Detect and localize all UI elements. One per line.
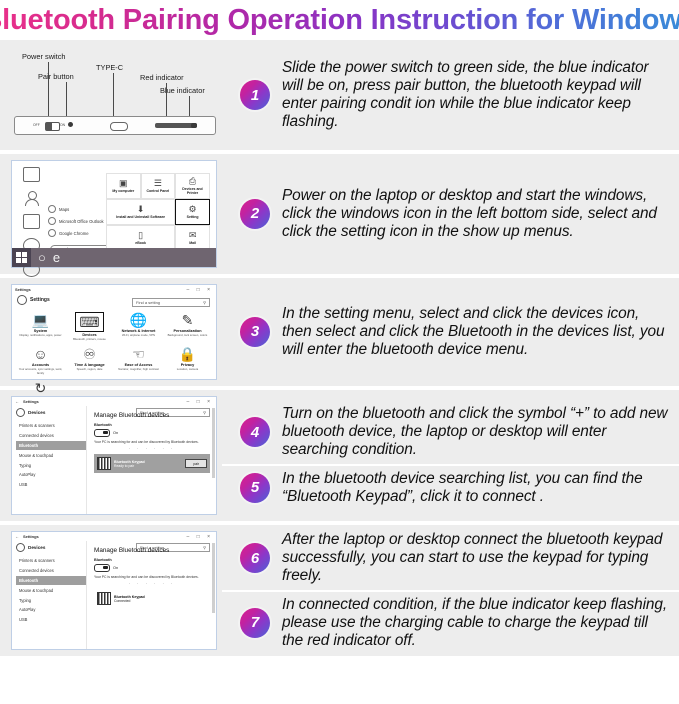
bluetooth-toggle-label: Bluetooth (94, 423, 210, 427)
bluetooth-toggle-label: Bluetooth (94, 558, 210, 562)
step-number-badge: 2 (240, 199, 270, 229)
back-arrow-icon[interactable]: ← (15, 534, 19, 539)
computer-icon: ▣ (119, 179, 128, 188)
step-block-2: 2 Power on the laptop or desktop and sta… (222, 183, 679, 246)
user-icon (24, 191, 39, 205)
sidebar-item-typing[interactable]: Typing (16, 460, 86, 470)
leader-line-pair-button (66, 82, 67, 118)
tile-label: Setting (187, 216, 199, 220)
step-text: In the setting menu, select and click th… (282, 305, 669, 360)
bluetooth-window-screenshot-pairing: ← Settings – □ × Find a setting ⚲ Device… (11, 396, 217, 515)
instruction-text-column-4: 4 Turn on the bluetooth and click the sy… (222, 390, 679, 521)
step-number-badge: 5 (240, 473, 270, 503)
taskbar: ○ e (12, 248, 216, 267)
step-text: In connected condition, if the blue indi… (282, 596, 669, 651)
bluetooth-window-screenshot-connected: ← Settings – □ × Find a setting ⚲ Device… (11, 531, 217, 650)
sidebar-item-mouse-touchpad[interactable]: Mouse & touchpad (16, 585, 86, 595)
page-title: Bluetooth Pairing Operation Instruction … (0, 0, 679, 40)
sidebar-item-typing[interactable]: Typing (16, 595, 86, 605)
sidebar-header: Devices (16, 543, 86, 552)
toggle-switch[interactable] (94, 564, 110, 572)
settings-window-cell: Settings – □ × Settings Find a setting ⚲… (0, 278, 222, 386)
sidebar-item-printers[interactable]: Printers & scanners (16, 421, 86, 431)
download-icon: ⬇ (137, 205, 145, 214)
scrollbar[interactable] (212, 543, 215, 613)
bluetooth-main-pane: Manage Bluetooth devices Bluetooth On Yo… (86, 406, 216, 514)
start-menu-screenshot: Maps Microsoft Office Outlook Google Chr… (11, 160, 217, 268)
clock-icon: ♾ (83, 346, 96, 362)
leader-line-power-switch (48, 62, 49, 118)
person-icon: ☺ (33, 346, 47, 362)
instruction-text-column-3: 3 In the setting menu, select and click … (222, 278, 679, 386)
app-label: Maps (59, 207, 69, 212)
step-text: After the laptop or desktop connect the … (282, 531, 669, 586)
app-icon (48, 217, 56, 225)
label-blue-indicator: Blue indicator (160, 86, 205, 95)
bluetooth-pairing-cell: ← Settings – □ × Find a setting ⚲ Device… (0, 390, 222, 521)
window-title: Settings (15, 287, 31, 292)
step-number-badge: 6 (240, 543, 270, 573)
devices-sidebar: Devices Printers & scanners Connected de… (12, 406, 86, 514)
settings-item-devices[interactable]: ⌨ Devices Bluetooth, printers, mouse (65, 312, 114, 341)
sidebar-item-usb[interactable]: USB (16, 615, 86, 625)
book-icon: ▯ (138, 231, 143, 240)
tile-label: Install and Uninstall Software (116, 216, 165, 220)
settings-grid: 💻 System Display, notifications, apps, p… (16, 312, 212, 407)
settings-item-privacy[interactable]: 🔒 Privacy Location, camera (163, 346, 212, 375)
window-controls[interactable]: – □ × (187, 287, 214, 293)
sidebar-item-autoplay[interactable]: AutoPlay (16, 605, 86, 615)
hamburger-icon (23, 167, 40, 182)
label-red-indicator: Red indicator (140, 73, 184, 82)
settings-item-desc: Wi-Fi, airplane mode, VPN (117, 334, 161, 337)
window-title-bar: Settings – □ × (12, 285, 216, 294)
settings-item-desc: Narrator, magnifier, high contrast (117, 368, 161, 371)
step-number-badge: 1 (240, 80, 270, 110)
gear-icon (16, 543, 25, 552)
edge-icon[interactable]: e (53, 251, 60, 264)
searching-indicator: · · · · · · (94, 446, 210, 451)
step-block-7: 7 In connected condition, if the blue in… (222, 590, 679, 655)
accessibility-icon: ☜ (132, 346, 145, 362)
search-placeholder: Find a setting (136, 300, 160, 305)
bluetooth-main-pane: Manage Bluetooth devices Bluetooth On Yo… (86, 541, 216, 649)
step-text: Slide the power switch to green side, th… (282, 59, 669, 132)
app-icon (48, 229, 56, 237)
instruction-row-1: Power switch Pair button TYPE-C Red indi… (0, 40, 679, 150)
instruction-row-3: Settings – □ × Settings Find a setting ⚲… (0, 278, 679, 386)
sidebar-title: Devices (28, 410, 45, 415)
sidebar-header: Devices (16, 408, 86, 417)
app-label: Microsoft Office Outlook (59, 219, 104, 224)
settings-item-desc: Location, camera (166, 368, 210, 371)
instruction-text-column-5: 6 After the laptop or desktop connect th… (222, 525, 679, 656)
discovery-note: Your PC is searching for and can be disc… (94, 575, 210, 579)
settings-item-personalization[interactable]: ✎ Personalization Background, lock scree… (163, 312, 212, 341)
bluetooth-toggle[interactable]: On (94, 564, 210, 572)
scrollbar[interactable] (212, 408, 215, 478)
pair-button[interactable]: pair (185, 459, 207, 468)
window-controls[interactable]: – □ × (187, 399, 214, 405)
toggle-switch[interactable] (94, 429, 110, 437)
back-arrow-icon[interactable]: ← (15, 399, 19, 404)
circle-icon[interactable]: ○ (38, 251, 46, 264)
lock-icon: 🔒 (179, 346, 196, 362)
step-text: Turn on the bluetooth and click the symb… (282, 405, 669, 460)
step-text: Power on the laptop or desktop and start… (282, 187, 669, 242)
tile-control-panel[interactable]: ☰ Control Panel (141, 173, 176, 199)
searching-indicator: · · · · · · (94, 581, 210, 586)
window-title: Settings (23, 399, 39, 404)
leader-line-blue-indicator (189, 96, 190, 118)
step-number-badge: 3 (240, 317, 270, 347)
toggle-state-label: On (113, 431, 118, 435)
monitor-icon: 💻 (32, 312, 49, 328)
tile-label: Mail (189, 242, 196, 246)
step-block-3: 3 In the setting menu, select and click … (222, 301, 679, 364)
settings-item-desc: Display, notifications, apps, power (19, 334, 63, 337)
pane-heading: Manage Bluetooth devices (94, 547, 210, 554)
search-input[interactable]: Find a setting ⚲ (132, 298, 210, 307)
switch-off-mark: OFF (33, 123, 40, 127)
app-icon (48, 205, 56, 213)
instruction-row-4: ← Settings – □ × Find a setting ⚲ Device… (0, 390, 679, 521)
start-menu-rail (16, 167, 46, 286)
sidebar-title: Devices (28, 545, 45, 550)
refresh-icon: ↻ (35, 380, 47, 396)
settings-title: Settings (30, 297, 50, 303)
step-text: In the bluetooth device searching list, … (282, 470, 669, 506)
keypad-edge-view: OFF ON (14, 116, 216, 135)
sidebar-item-usb[interactable]: USB (16, 480, 86, 490)
window-title: Settings (23, 534, 39, 539)
switch-on-mark: ON (60, 123, 65, 127)
tile-devices-and-printer[interactable]: ⎙ Devices and Printer (175, 173, 210, 199)
step-number-badge: 4 (240, 417, 270, 447)
sliders-icon: ☰ (154, 179, 162, 188)
sidebar-item-connected-devices[interactable]: Connected devices (16, 431, 86, 441)
settings-item-system[interactable]: 💻 System Display, notifications, apps, p… (16, 312, 65, 341)
tile-label: Devices and Printer (176, 188, 209, 196)
label-type-c: TYPE-C (96, 63, 123, 72)
tile-my-computer[interactable]: ▣ My computer (106, 173, 141, 199)
instruction-sheet: Bluetooth Pairing Operation Instruction … (0, 0, 679, 704)
bluetooth-window-body: Devices Printers & scanners Connected de… (12, 406, 216, 514)
gear-icon: ⚙ (189, 205, 197, 214)
label-power-switch: Power switch (22, 52, 66, 61)
label-pair-button: Pair button (38, 72, 74, 81)
step-block-5: 5 In the bluetooth device searching list… (222, 464, 679, 510)
instruction-text-column-1: 1 Slide the power switch to green side, … (222, 40, 679, 150)
search-icon: ⚲ (203, 300, 206, 305)
blue-indicator-graphic (191, 123, 197, 128)
devices-sidebar: Devices Printers & scanners Connected de… (12, 541, 86, 649)
pen-icon: ✎ (182, 312, 194, 328)
leader-line-type-c (113, 73, 114, 118)
gear-icon (16, 408, 25, 417)
globe-icon: 🌐 (130, 312, 147, 328)
sidebar-item-connected-devices[interactable]: Connected devices (16, 566, 86, 576)
start-menu-tiles: ▣ My computer ☰ Control Panel ⎙ Devices … (106, 173, 210, 251)
keypad-icon (97, 592, 111, 605)
settings-item-time-language[interactable]: ♾ Time & language Speech, region, date (65, 346, 114, 375)
settings-item-network[interactable]: 🌐 Network & Internet Wi-Fi, airplane mod… (114, 312, 163, 341)
gear-icon (17, 295, 27, 305)
toggle-state-label: On (113, 566, 118, 570)
step-number-badge: 7 (240, 608, 270, 638)
settings-item-desc: Your accounts, sync settings, work, fami… (19, 368, 63, 375)
settings-item-desc: Bluetooth, printers, mouse (68, 338, 112, 341)
window-controls[interactable]: – □ × (187, 534, 214, 540)
discovery-note: Your PC is searching for and can be disc… (94, 440, 210, 444)
sidebar-item-printers[interactable]: Printers & scanners (16, 556, 86, 566)
settings-item-desc: Speech, region, date (68, 368, 112, 371)
tile-label: Control Panel (147, 190, 170, 194)
sidebar-item-autoplay[interactable]: AutoPlay (16, 470, 86, 480)
step-block-4: 4 Turn on the bluetooth and click the sy… (222, 401, 679, 464)
keypad-diagram: Power switch Pair button TYPE-C Red indi… (10, 46, 218, 144)
power-switch-graphic (45, 122, 60, 131)
bluetooth-toggle[interactable]: On (94, 429, 210, 437)
mail-icon: ✉ (189, 231, 197, 240)
sidebar-item-bluetooth[interactable]: Bluetooth (16, 576, 86, 586)
device-status: Ready to pair (114, 464, 145, 468)
list-item[interactable]: Bluetooth Keypad Ready to pair pair (94, 454, 210, 473)
settings-item-ease-of-access[interactable]: ☜ Ease of Access Narrator, magnifier, hi… (114, 346, 163, 375)
pair-button-graphic (68, 122, 73, 127)
keypad-icon (97, 457, 111, 470)
instruction-row-2: Maps Microsoft Office Outlook Google Chr… (0, 154, 679, 274)
folder-icon (23, 214, 40, 229)
instruction-text-column-2: 2 Power on the laptop or desktop and sta… (222, 154, 679, 274)
settings-item-desc: Background, lock screen, colors (166, 334, 210, 337)
sidebar-item-mouse-touchpad[interactable]: Mouse & touchpad (16, 450, 86, 460)
pane-heading: Manage Bluetooth devices (94, 412, 210, 419)
tile-label: eBook (135, 242, 146, 246)
settings-window-screenshot: Settings – □ × Settings Find a setting ⚲… (11, 284, 217, 380)
settings-item-accounts[interactable]: ☺ Accounts Your accounts, sync settings,… (16, 346, 65, 375)
step-block-6: 6 After the laptop or desktop connect th… (222, 527, 679, 590)
type-c-port-graphic (110, 122, 128, 131)
tile-install-uninstall-software[interactable]: ⬇ Install and Uninstall Software (106, 199, 175, 225)
windows-logo-icon[interactable] (12, 248, 31, 267)
list-item[interactable]: Bluetooth Keypad Connected (94, 589, 210, 608)
window-title-bar: ← Settings – □ × (12, 532, 216, 541)
window-title-bar: ← Settings – □ × (12, 397, 216, 406)
tile-setting[interactable]: ⚙ Setting (175, 199, 210, 225)
printer-icon: ⎙ (189, 177, 196, 186)
step-block-1: 1 Slide the power switch to green side, … (222, 55, 679, 136)
devices-icon: ⌨ (75, 312, 103, 332)
sidebar-item-bluetooth[interactable]: Bluetooth (16, 441, 86, 451)
app-label: Google Chrome (59, 231, 89, 236)
keypad-diagram-cell: Power switch Pair button TYPE-C Red indi… (0, 40, 222, 150)
tile-label: My computer (112, 190, 134, 194)
instruction-row-5: ← Settings – □ × Find a setting ⚲ Device… (0, 525, 679, 656)
start-menu-cell: Maps Microsoft Office Outlook Google Chr… (0, 154, 222, 274)
device-status: Connected (114, 599, 145, 603)
bluetooth-connected-cell: ← Settings – □ × Find a setting ⚲ Device… (0, 525, 222, 656)
bluetooth-window-body: Devices Printers & scanners Connected de… (12, 541, 216, 649)
